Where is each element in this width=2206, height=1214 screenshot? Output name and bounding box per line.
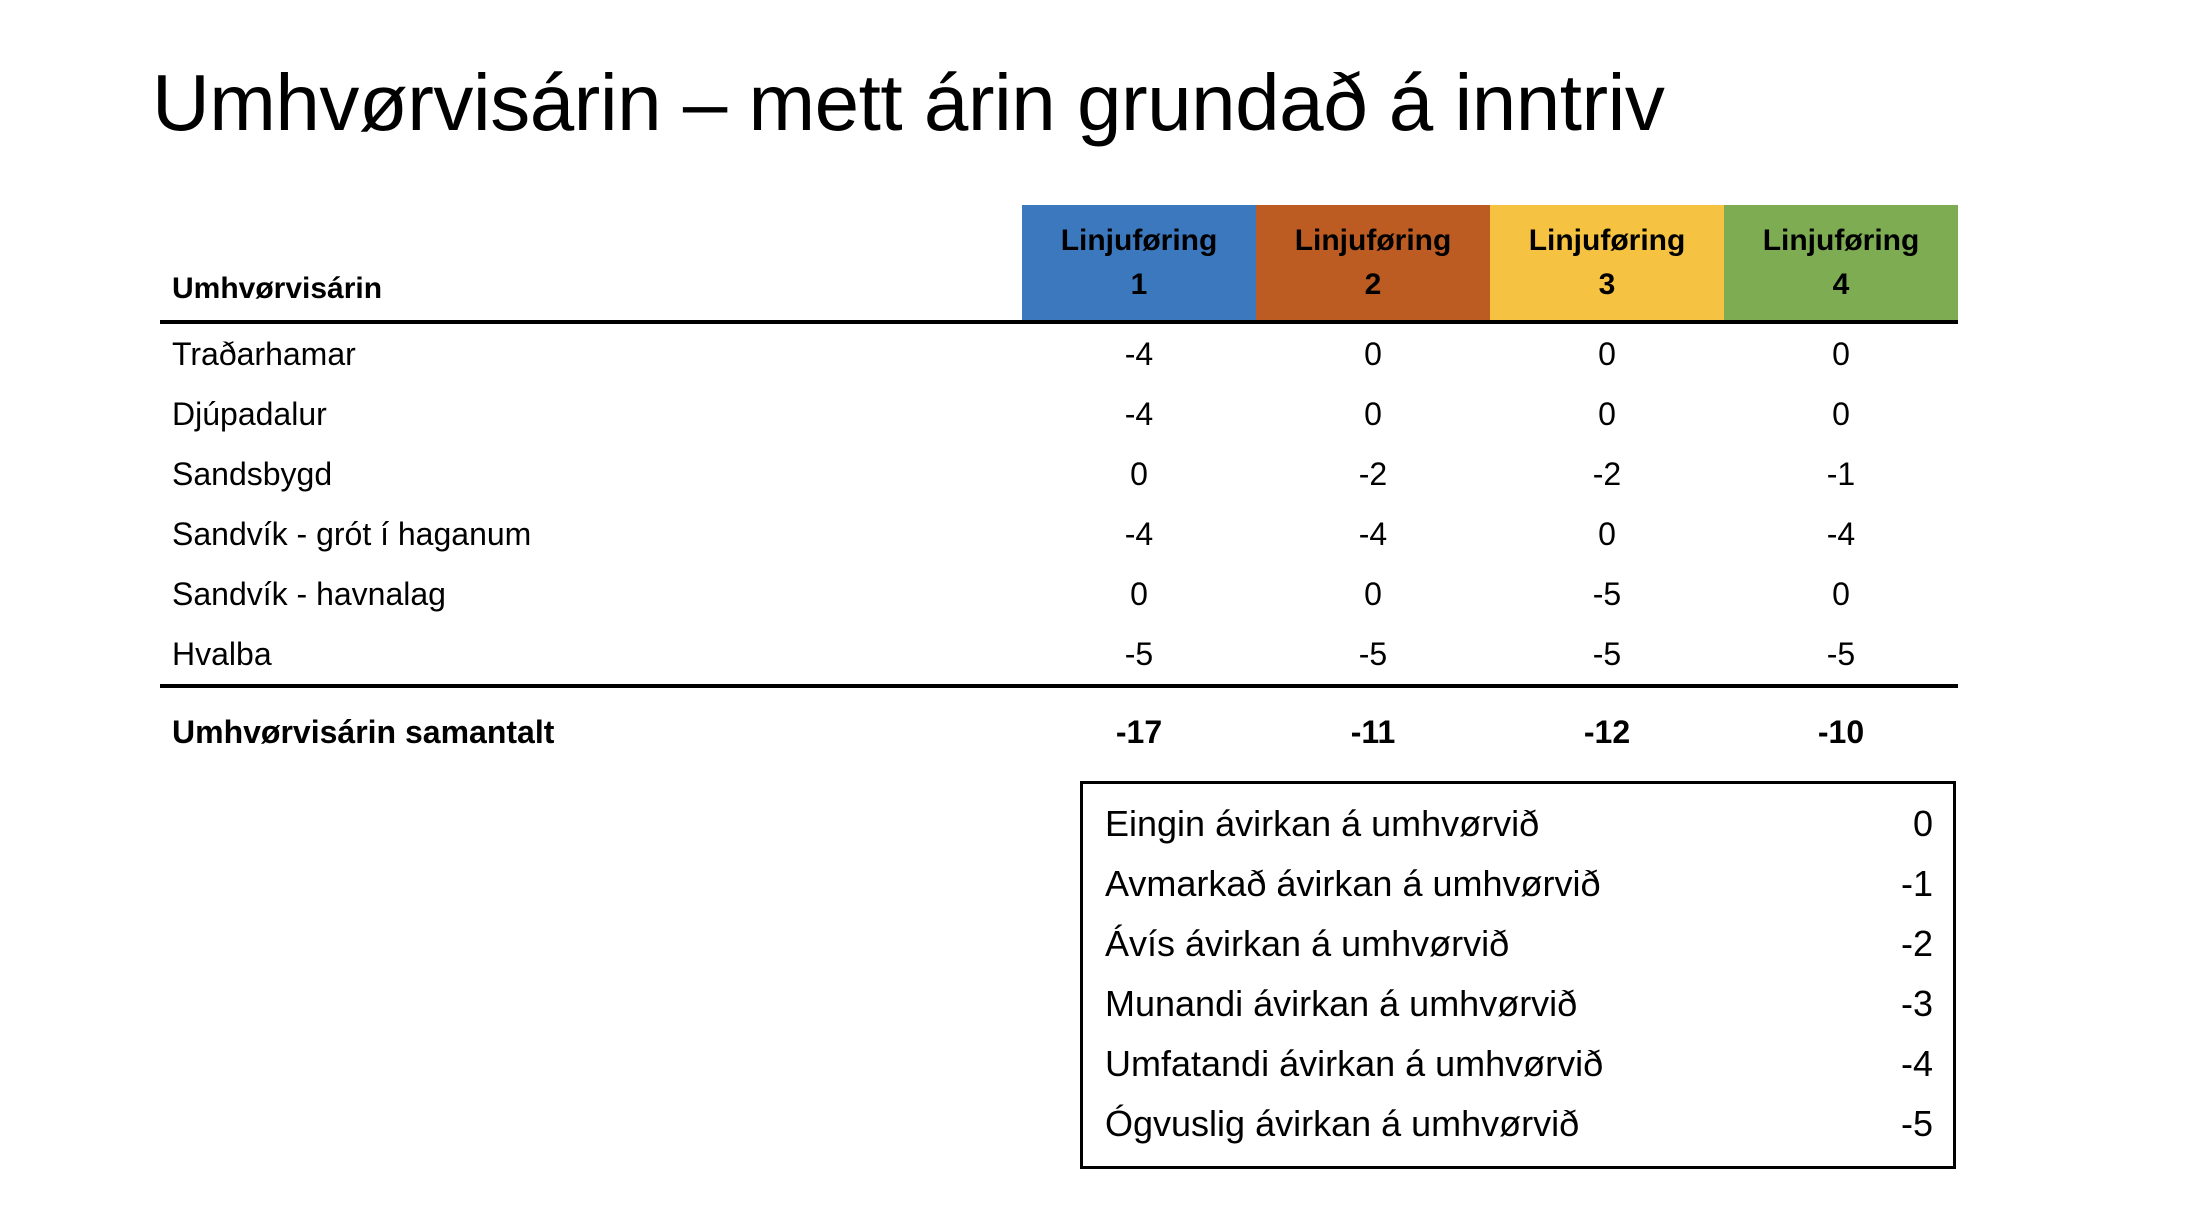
total-label: Umhvørvisárin samantalt	[160, 686, 1022, 767]
cell-value: -5	[1724, 624, 1958, 686]
row-label: Traðarhamar	[160, 322, 1022, 384]
legend-item: Ávís ávirkan á umhvørvið -2	[1105, 914, 1933, 974]
matrix-table: Umhvørvisárin Linjuføring 1 Linjuføring …	[160, 205, 1958, 767]
cell-value: -2	[1256, 444, 1490, 504]
row-label: Sandvík - havnalag	[160, 564, 1022, 624]
column-header-linjuforing-3: Linjuføring 3	[1490, 205, 1724, 322]
cell-value: -4	[1256, 504, 1490, 564]
row-label: Sandsbygd	[160, 444, 1022, 504]
legend-item: Avmarkað ávirkan á umhvørvið -1	[1105, 854, 1933, 914]
legend-item: Eingin ávirkan á umhvørvið 0	[1105, 794, 1933, 854]
page-title: Umhvørvisárin – mett árin grundað á innt…	[152, 62, 1664, 144]
cell-value: 0	[1490, 384, 1724, 444]
column-header-label: Linjuføring	[1022, 219, 1256, 263]
legend-score: -5	[1823, 1094, 1933, 1154]
legend-label: Eingin ávirkan á umhvørvið	[1105, 794, 1823, 854]
legend-score: -4	[1823, 1034, 1933, 1094]
cell-value: -5	[1490, 564, 1724, 624]
row-label: Djúpadalur	[160, 384, 1022, 444]
cell-value: 0	[1724, 384, 1958, 444]
legend-label: Munandi ávirkan á umhvørvið	[1105, 974, 1823, 1034]
cell-value: -5	[1256, 624, 1490, 686]
column-header-label: Linjuføring	[1490, 219, 1724, 263]
table-row: Hvalba -5 -5 -5 -5	[160, 624, 1958, 686]
legend-item: Munandi ávirkan á umhvørvið -3	[1105, 974, 1933, 1034]
cell-value: 0	[1022, 444, 1256, 504]
total-value: -10	[1724, 686, 1958, 767]
total-value: -12	[1490, 686, 1724, 767]
cell-value: -4	[1724, 504, 1958, 564]
column-header-label: Linjuføring	[1724, 219, 1958, 263]
header-corner-label: Umhvørvisárin	[160, 205, 1022, 322]
table-header-row: Umhvørvisárin Linjuføring 1 Linjuføring …	[160, 205, 1958, 322]
cell-value: 0	[1256, 384, 1490, 444]
row-label: Hvalba	[160, 624, 1022, 686]
cell-value: -1	[1724, 444, 1958, 504]
legend-score: -1	[1823, 854, 1933, 914]
legend-score: 0	[1823, 794, 1933, 854]
column-header-linjuforing-4: Linjuføring 4	[1724, 205, 1958, 322]
legend-item: Umfatandi ávirkan á umhvørvið -4	[1105, 1034, 1933, 1094]
column-header-number: 4	[1724, 263, 1958, 307]
total-value: -17	[1022, 686, 1256, 767]
cell-value: -5	[1490, 624, 1724, 686]
total-value: -11	[1256, 686, 1490, 767]
cell-value: 0	[1724, 564, 1958, 624]
table-row: Sandvík - havnalag 0 0 -5 0	[160, 564, 1958, 624]
impact-scale-legend: Eingin ávirkan á umhvørvið 0 Avmarkað áv…	[1080, 781, 1956, 1169]
column-header-number: 2	[1256, 263, 1490, 307]
row-label: Sandvík - grót í haganum	[160, 504, 1022, 564]
legend-score: -2	[1823, 914, 1933, 974]
legend-label: Umfatandi ávirkan á umhvørvið	[1105, 1034, 1823, 1094]
legend-item: Ógvuslig ávirkan á umhvørvið -5	[1105, 1094, 1933, 1154]
cell-value: 0	[1256, 322, 1490, 384]
cell-value: 0	[1490, 322, 1724, 384]
legend-label: Ógvuslig ávirkan á umhvørvið	[1105, 1094, 1823, 1154]
cell-value: 0	[1724, 322, 1958, 384]
column-header-linjuforing-1: Linjuføring 1	[1022, 205, 1256, 322]
cell-value: 0	[1490, 504, 1724, 564]
table-row: Sandvík - grót í haganum -4 -4 0 -4	[160, 504, 1958, 564]
cell-value: -4	[1022, 322, 1256, 384]
cell-value: -2	[1490, 444, 1724, 504]
environmental-impact-table: Umhvørvisárin Linjuføring 1 Linjuføring …	[160, 205, 1958, 767]
legend-table: Eingin ávirkan á umhvørvið 0 Avmarkað áv…	[1105, 794, 1933, 1154]
cell-value: -4	[1022, 384, 1256, 444]
cell-value: 0	[1022, 564, 1256, 624]
legend-score: -3	[1823, 974, 1933, 1034]
table-row: Traðarhamar -4 0 0 0	[160, 322, 1958, 384]
column-header-linjuforing-2: Linjuføring 2	[1256, 205, 1490, 322]
cell-value: 0	[1256, 564, 1490, 624]
legend-label: Avmarkað ávirkan á umhvørvið	[1105, 854, 1823, 914]
cell-value: -4	[1022, 504, 1256, 564]
cell-value: -5	[1022, 624, 1256, 686]
legend-label: Ávís ávirkan á umhvørvið	[1105, 914, 1823, 974]
column-header-number: 1	[1022, 263, 1256, 307]
column-header-number: 3	[1490, 263, 1724, 307]
table-total-row: Umhvørvisárin samantalt -17 -11 -12 -10	[160, 686, 1958, 767]
table-row: Djúpadalur -4 0 0 0	[160, 384, 1958, 444]
table-row: Sandsbygd 0 -2 -2 -1	[160, 444, 1958, 504]
column-header-label: Linjuføring	[1256, 219, 1490, 263]
